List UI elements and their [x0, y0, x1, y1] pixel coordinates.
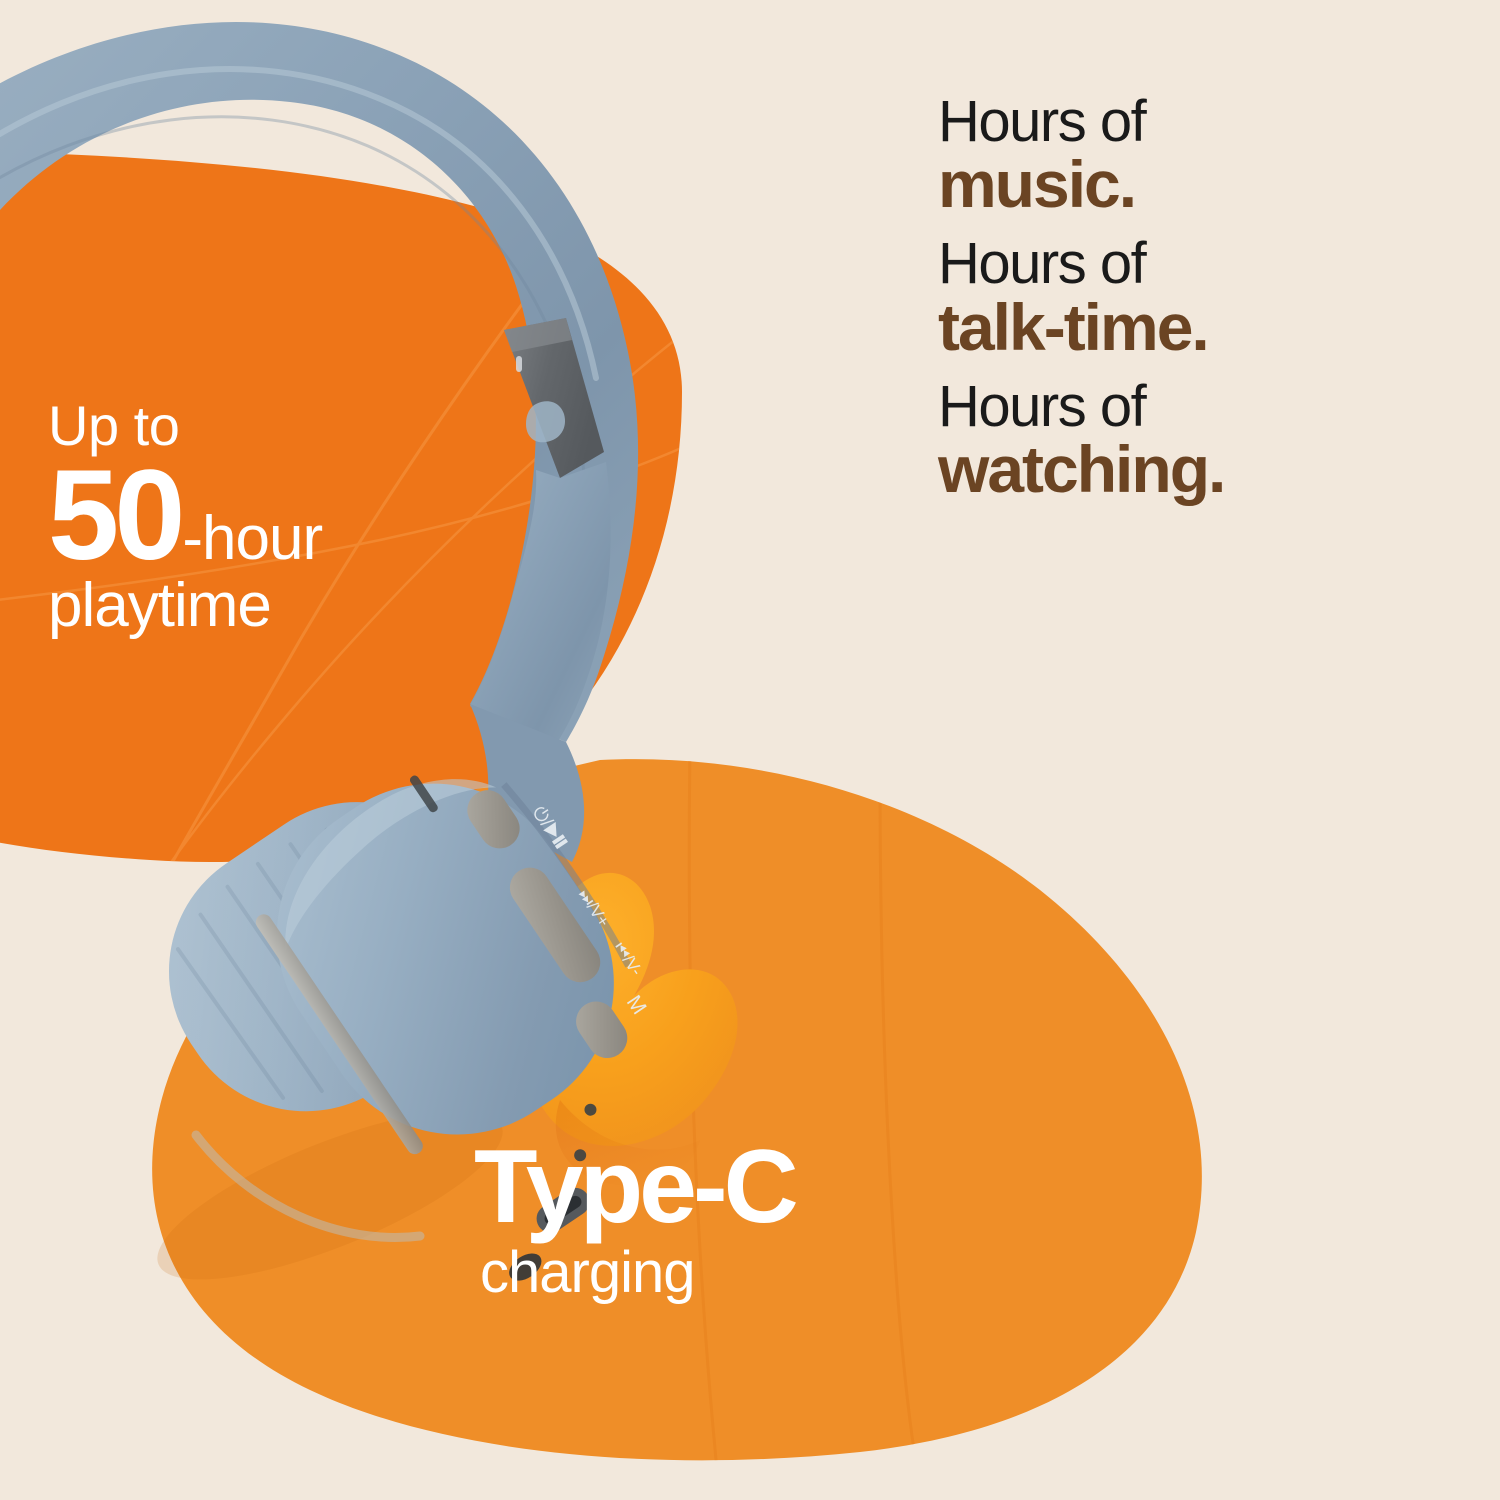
- hours-of-emph-watching: watching.: [938, 435, 1458, 505]
- product-marketing-banner: ⏻/▶❙❙ ⏭/V+ ⏮/V- M Up to: [0, 0, 1500, 1500]
- hours-of-emph-music: music.: [938, 150, 1458, 220]
- playtime-number-suffix: -hour: [182, 508, 322, 570]
- playtime-subtitle: playtime: [48, 575, 518, 637]
- charging-callout: Type-C charging: [474, 1138, 994, 1302]
- hours-of-lead-talktime: Hours of: [938, 234, 1458, 294]
- hours-of-lead-music: Hours of: [938, 92, 1458, 152]
- hours-of-group-music: Hours of music.: [938, 92, 1458, 220]
- playtime-number: 50: [48, 460, 180, 573]
- charging-headline: Type-C: [474, 1138, 994, 1238]
- charging-subtitle: charging: [480, 1244, 994, 1302]
- hours-of-group-watching: Hours of watching.: [938, 377, 1458, 505]
- playtime-callout: Up to 50 -hour playtime: [48, 398, 518, 637]
- playtime-number-row: 50 -hour: [48, 460, 518, 573]
- slider-notch: [516, 356, 522, 372]
- hours-of-emph-talktime: talk-time.: [938, 293, 1458, 363]
- hours-of-group-talktime: Hours of talk-time.: [938, 234, 1458, 362]
- hours-of-callout: Hours of music. Hours of talk-time. Hour…: [938, 92, 1458, 519]
- hours-of-lead-watching: Hours of: [938, 377, 1458, 437]
